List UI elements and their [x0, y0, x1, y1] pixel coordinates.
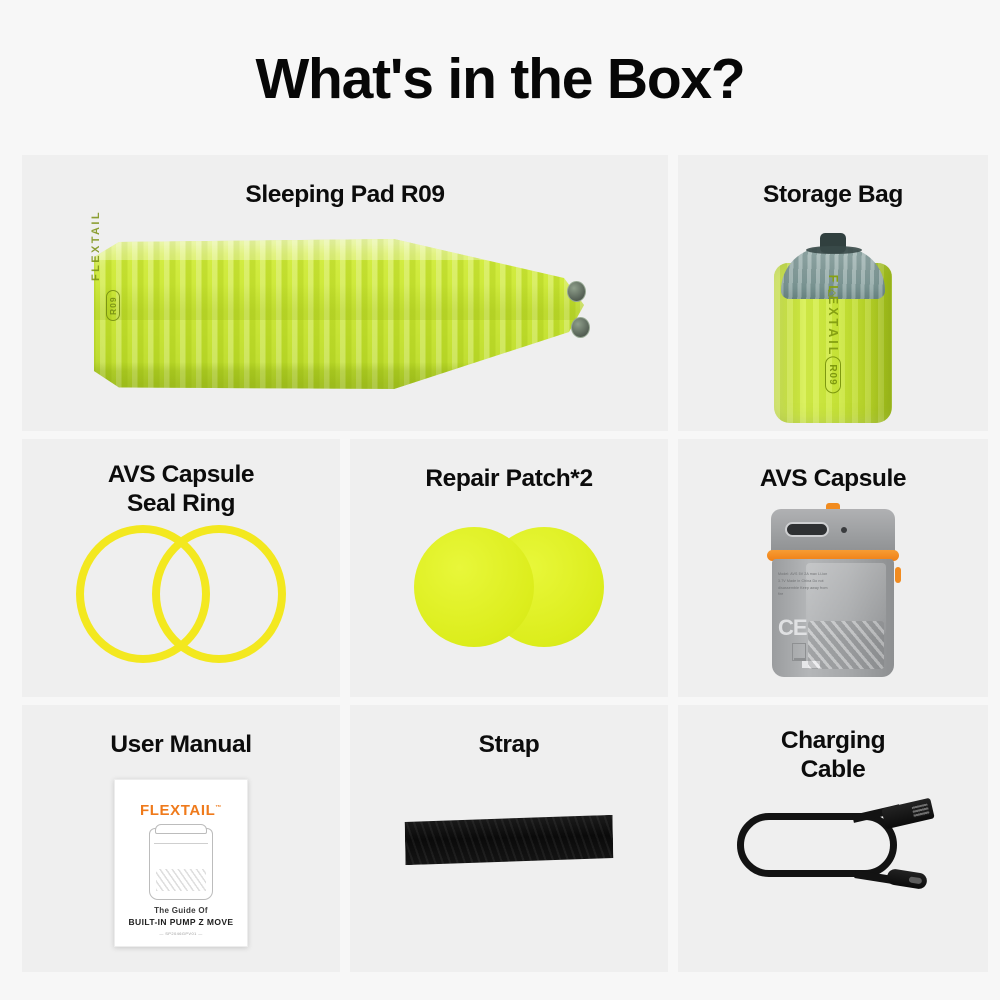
- pad-model-badge: R09: [106, 290, 120, 321]
- strap-texture: [405, 815, 614, 865]
- manual-product-name: BUILT-IN PUMP Z MOVE: [115, 917, 247, 927]
- usb-c-connector-icon: [886, 868, 928, 890]
- card-strap: Strap: [350, 705, 668, 972]
- card-user-manual: User Manual FLEXTAIL™ The Guide Of BUILT…: [22, 705, 340, 972]
- capsule-top-cap: [771, 509, 895, 553]
- capsule-vent-hatch: [808, 621, 884, 669]
- strap-label: Strap: [350, 731, 668, 760]
- weee-bin-icon: [792, 643, 806, 661]
- manual-brand-logo: FLEXTAIL™: [115, 802, 247, 819]
- manual-trademark: ™: [215, 805, 222, 811]
- pad-valve-icon: [571, 317, 590, 338]
- storage-bag-label: Storage Bag: [678, 181, 988, 210]
- capsule-body: Model: AVS 5V 2A max Li-ion 3.7V Made in…: [772, 559, 894, 677]
- sleeping-pad-label: Sleeping Pad R09: [22, 181, 668, 210]
- pad-valve-icon: [567, 281, 586, 302]
- user-manual-label: User Manual: [22, 731, 340, 760]
- card-charging-cable: Charging Cable: [678, 705, 988, 972]
- repair-patch-front: [414, 527, 534, 647]
- repair-patch-label: Repair Patch*2: [350, 465, 668, 494]
- manual-product-drawing: [149, 828, 213, 900]
- manual-brand-text: FLEXTAIL: [140, 802, 215, 819]
- capsule-side-tab: [895, 567, 901, 583]
- card-avs-capsule: AVS Capsule Model: AVS 5V 2A max Li-ion …: [678, 439, 988, 697]
- manual-sku: — SP2046GPV01 —: [115, 931, 247, 936]
- ce-mark-icon: CE: [778, 615, 807, 641]
- seal-ring-label-line1: AVS Capsule: [108, 461, 254, 488]
- charging-cable-label-line1: Charging: [781, 727, 885, 754]
- charging-cable-label-line2: Cable: [801, 756, 866, 783]
- seal-ring-label-line2: Seal Ring: [127, 490, 235, 517]
- manual-product-lid: [155, 824, 207, 834]
- bag-model-badge: R09: [825, 356, 841, 393]
- seal-ring-label: AVS Capsule Seal Ring: [22, 461, 340, 519]
- card-seal-ring: AVS Capsule Seal Ring: [22, 439, 340, 697]
- strap-band: [405, 815, 614, 865]
- avs-capsule-label: AVS Capsule: [678, 465, 988, 494]
- usb-c-port-icon: [785, 522, 829, 537]
- cable-loop: [737, 813, 897, 877]
- charging-cable-label: Charging Cable: [678, 727, 988, 785]
- card-sleeping-pad: Sleeping Pad R09 FLEXTAIL R09: [22, 155, 668, 431]
- usb-a-connector-icon: [881, 798, 934, 830]
- pad-brand-logo: FLEXTAIL: [90, 210, 102, 281]
- manual-subtitle: The Guide Of: [115, 906, 247, 915]
- whats-in-the-box-page: What's in the Box? Sleeping Pad R09 FLEX…: [0, 0, 1000, 1000]
- pad-shading: [84, 239, 584, 389]
- page-title: What's in the Box?: [0, 47, 1000, 113]
- items-grid: Sleeping Pad R09 FLEXTAIL R09 Storage Ba…: [22, 155, 978, 972]
- seal-ring-right: [152, 525, 286, 663]
- bag-cord-lock-icon: [820, 233, 846, 253]
- capsule-indicator-dot: [841, 527, 847, 533]
- card-repair-patch: Repair Patch*2: [350, 439, 668, 697]
- card-storage-bag: Storage Bag ⌂ FLEXTAIL R09: [678, 155, 988, 431]
- bag-brand-logo: FLEXTAIL: [826, 275, 840, 358]
